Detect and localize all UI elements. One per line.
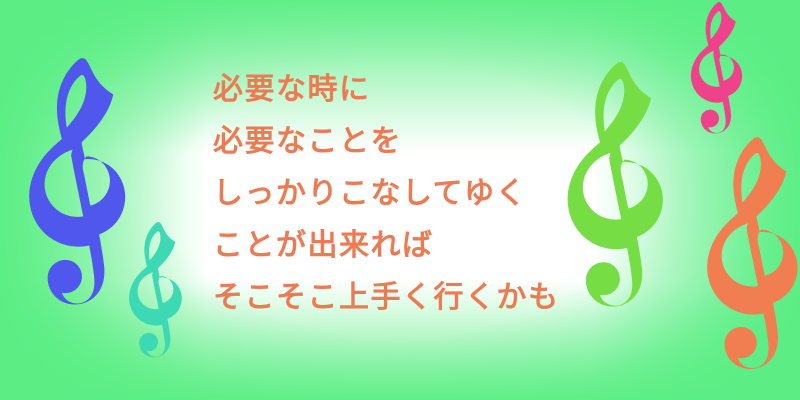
- poster-canvas: 必要な時に 必要なことを しっかりこなしてゆく ことが出来れば そこそこ上手く行…: [0, 0, 800, 400]
- treble-clef-orange-icon: [706, 137, 800, 377]
- quote-line-2: 必要なことを: [213, 116, 583, 168]
- quote-line-4: ことが出来れば: [213, 220, 583, 272]
- treble-clef-pink-icon: [690, 2, 746, 138]
- quote-line-5: そこそこ上手く行くかも: [213, 272, 583, 324]
- quote-text-block: 必要な時に 必要なことを しっかりこなしてゆく ことが出来れば そこそこ上手く行…: [213, 64, 583, 324]
- quote-line-3: しっかりこなしてゆく: [213, 168, 583, 220]
- treble-clef-teal-icon: [128, 222, 186, 362]
- treble-clef-blue-icon: [28, 58, 132, 313]
- quote-line-1: 必要な時に: [213, 64, 583, 116]
